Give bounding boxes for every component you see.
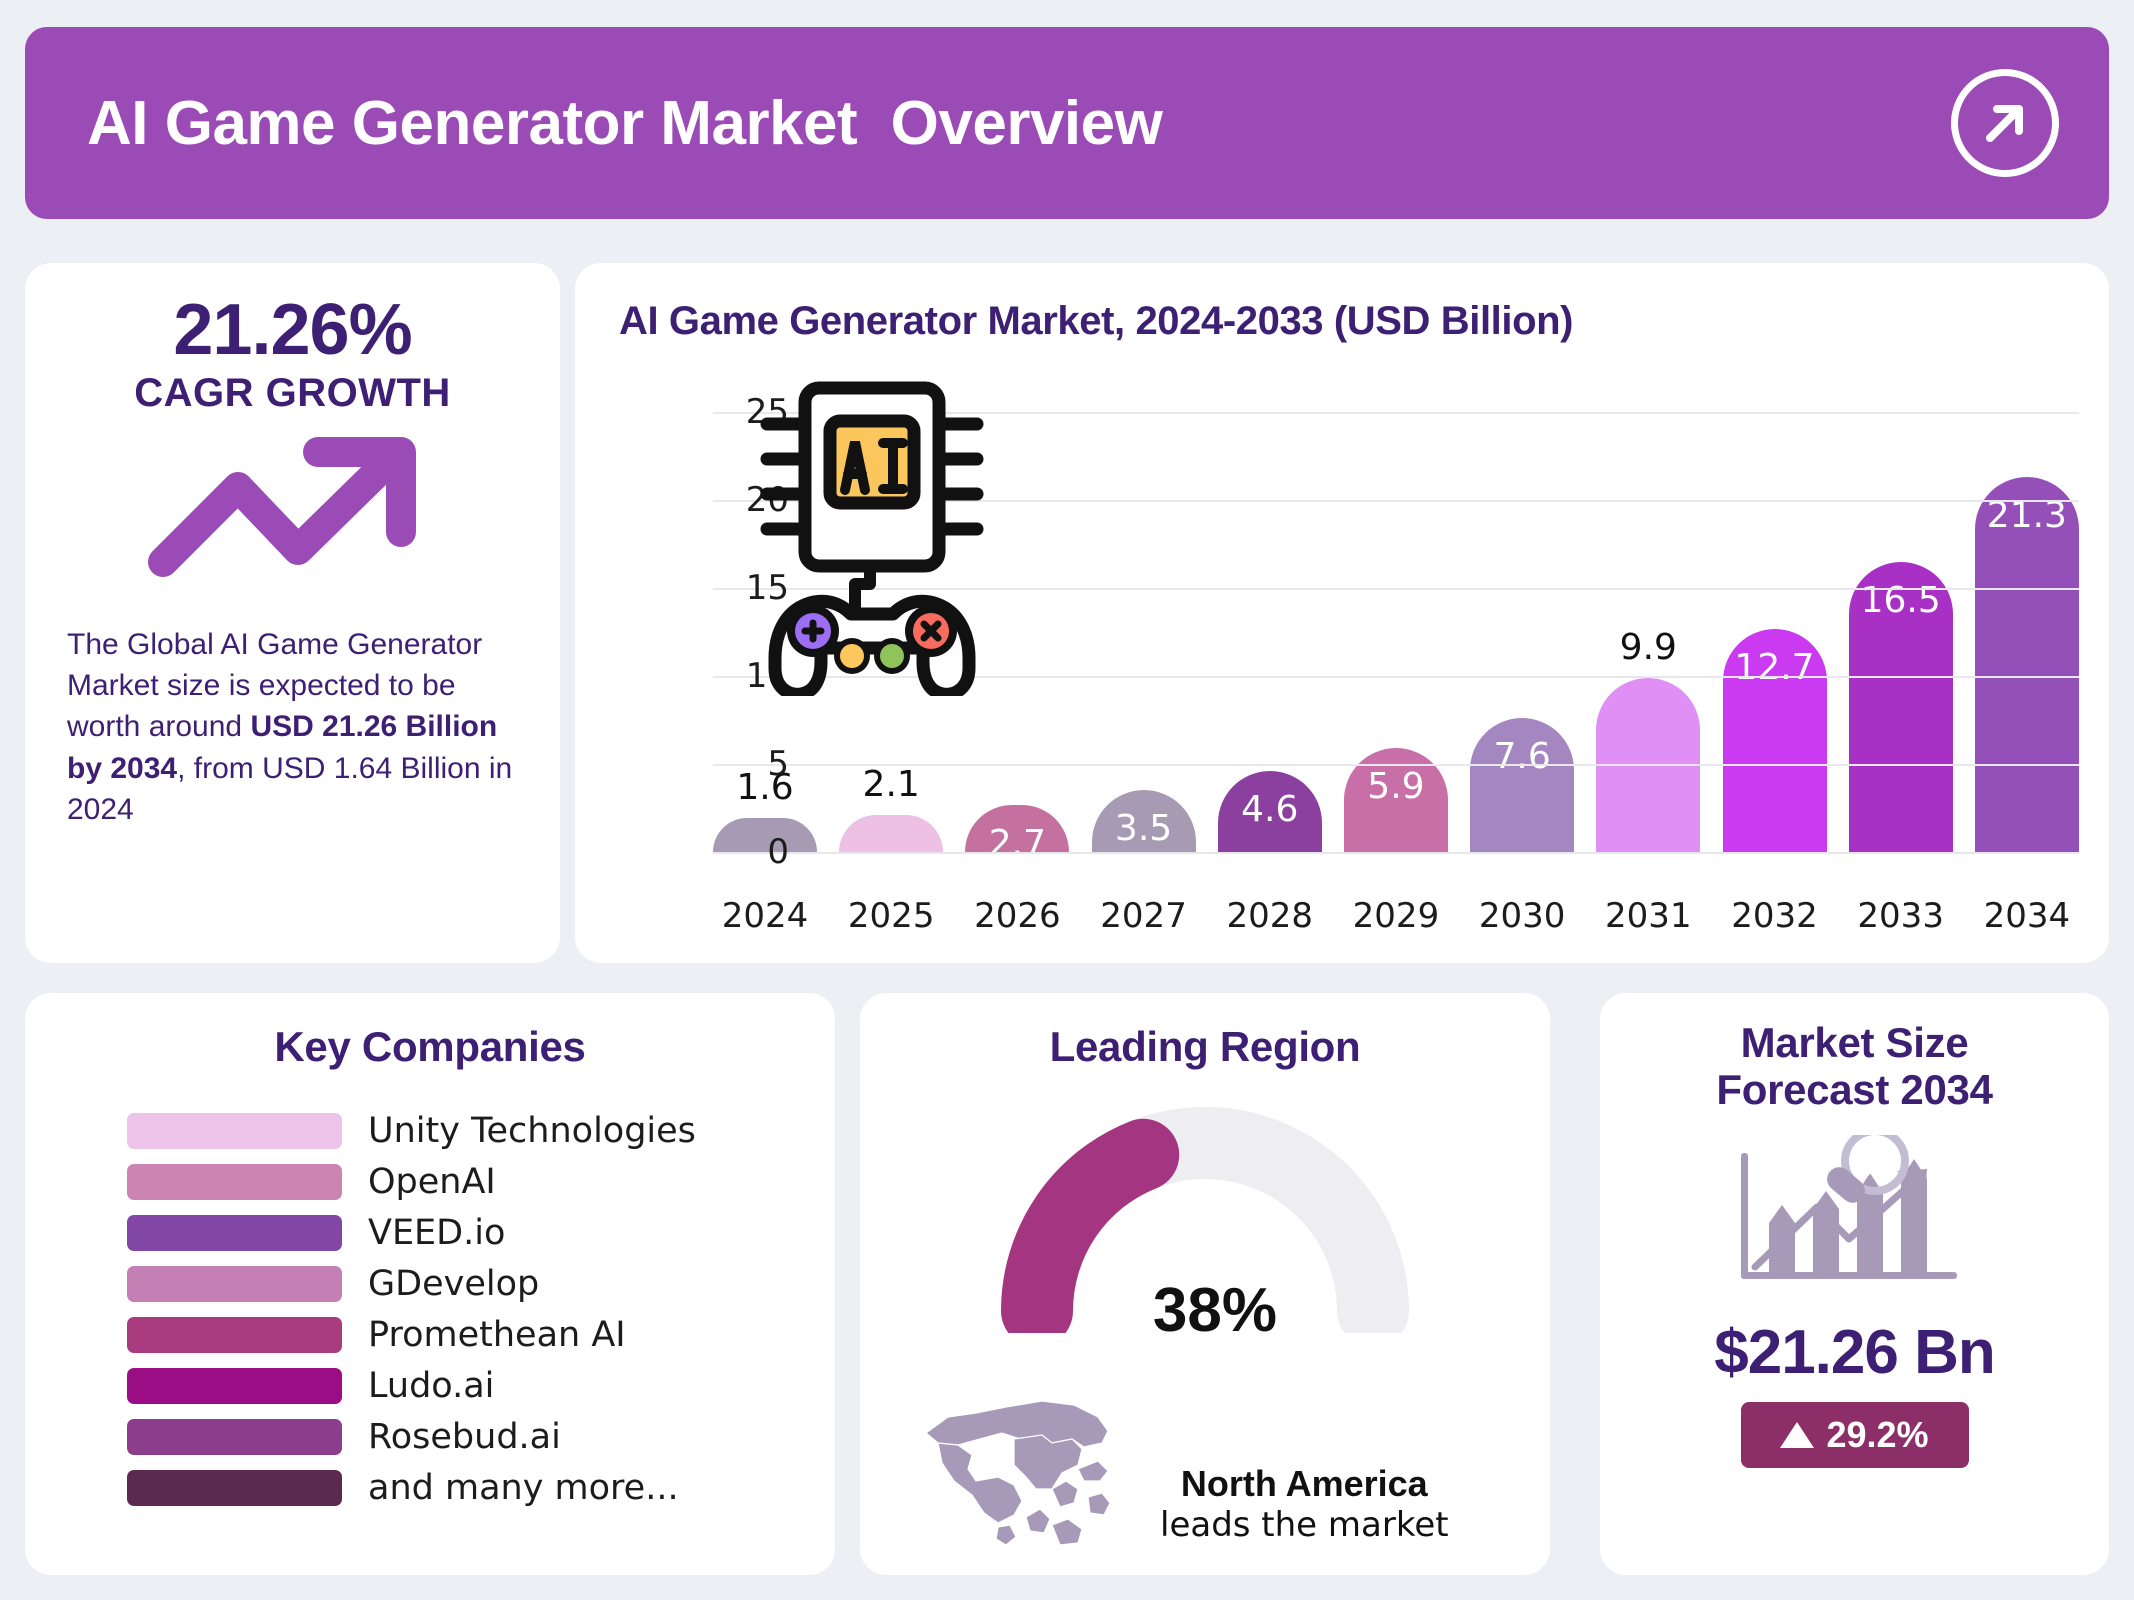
company-list-item[interactable]: Promethean AI <box>127 1309 799 1360</box>
company-name: VEED.io <box>368 1213 505 1253</box>
y-axis-tick: 25 <box>709 392 789 432</box>
leading-region-title: Leading Region <box>896 1023 1514 1071</box>
company-color-swatch <box>127 1215 342 1251</box>
bar[interactable]: 16.5 <box>1849 562 1953 852</box>
gridline <box>713 500 2079 502</box>
region-gauge: 38% <box>896 1093 1514 1393</box>
leading-region-card: Leading Region 38% <box>860 993 1550 1575</box>
x-axis-label: 2032 <box>1723 896 1827 936</box>
company-list-item[interactable]: Ludo.ai <box>127 1360 799 1411</box>
y-axis-tick: 20 <box>709 480 789 520</box>
page-header: AI Game Generator Market Overview <box>25 27 2109 219</box>
company-name: GDevelop <box>368 1264 539 1304</box>
region-subtitle: leads the market <box>1160 1505 1449 1545</box>
cagr-value: 21.26% <box>67 293 518 369</box>
forecast-growth-badge: 29.2% <box>1741 1402 1969 1468</box>
bar-value-label: 5.9 <box>1344 766 1448 807</box>
bar-value-label: 7.6 <box>1470 736 1574 777</box>
bar[interactable]: 4.6 <box>1218 771 1322 852</box>
company-list-item[interactable]: and many more... <box>127 1462 799 1513</box>
bar-item[interactable]: 16.5 <box>1849 386 1953 852</box>
company-name: Unity Technologies <box>368 1111 696 1151</box>
bar-value-label: 9.9 <box>1596 627 1700 668</box>
bar-value-label: 4.6 <box>1218 789 1322 830</box>
bar-item[interactable]: 2.1 <box>839 386 943 852</box>
x-axis-label: 2030 <box>1470 896 1574 936</box>
growth-chart-magnifier-icon <box>1630 1135 2079 1295</box>
y-axis-tick: 15 <box>709 568 789 608</box>
x-axis-label: 2033 <box>1849 896 1953 936</box>
x-axis-label: 2025 <box>839 896 943 936</box>
x-axis-label: 2031 <box>1596 896 1700 936</box>
forecast-title: Market Size Forecast 2034 <box>1630 1019 2079 1113</box>
x-axis-labels: 2024202520262027202820292030203120322033… <box>713 896 2079 936</box>
x-axis-label: 2024 <box>713 896 817 936</box>
gridline <box>713 852 2079 854</box>
bar-value-label: 2.7 <box>965 823 1069 864</box>
bar[interactable]: 21.3 <box>1975 477 2079 852</box>
company-color-swatch <box>127 1470 342 1506</box>
x-axis-label: 2029 <box>1344 896 1448 936</box>
bar-item[interactable]: 21.3 <box>1975 386 2079 852</box>
chart-card: AI Game Generator Market, 2024-2033 (USD… <box>575 263 2109 963</box>
arrow-up-right-icon[interactable] <box>1951 69 2059 177</box>
bar[interactable] <box>839 815 943 852</box>
company-name: Promethean AI <box>368 1315 626 1355</box>
bar-value-label: 2.1 <box>839 764 943 805</box>
cagr-card: 21.26% CAGR GROWTH The Global AI Game Ge… <box>25 263 560 963</box>
bar-item[interactable]: 3.5 <box>1092 386 1196 852</box>
infographic-page: AI Game Generator Market Overview 21.26%… <box>0 0 2134 1600</box>
forecast-value: $21.26 Bn <box>1630 1317 2079 1388</box>
x-axis-label: 2027 <box>1092 896 1196 936</box>
trending-up-arrow-icon <box>67 432 518 582</box>
bar[interactable]: 2.7 <box>965 805 1069 852</box>
company-list-item[interactable]: VEED.io <box>127 1207 799 1258</box>
company-name: Rosebud.ai <box>368 1417 561 1457</box>
company-color-swatch <box>127 1419 342 1455</box>
chart-title: AI Game Generator Market, 2024-2033 (USD… <box>619 299 2079 344</box>
bar-series: 1.62.12.73.54.65.97.69.912.716.521.3 <box>713 386 2079 852</box>
bar-item[interactable]: 12.7 <box>1723 386 1827 852</box>
bar-item[interactable]: 2.7 <box>965 386 1069 852</box>
x-axis-label: 2034 <box>1975 896 2079 936</box>
company-name: Ludo.ai <box>368 1366 494 1406</box>
triangle-up-icon <box>1780 1422 1814 1448</box>
forecast-title-line2: Forecast 2034 <box>1630 1066 2079 1113</box>
company-color-swatch <box>127 1317 342 1353</box>
company-name: and many more... <box>368 1468 679 1508</box>
key-companies-title: Key Companies <box>61 1023 799 1071</box>
company-color-swatch <box>127 1113 342 1149</box>
bar[interactable]: 3.5 <box>1092 790 1196 852</box>
bar-item[interactable]: 5.9 <box>1344 386 1448 852</box>
company-list-item[interactable]: OpenAI <box>127 1156 799 1207</box>
chart-plot-area: 1.62.12.73.54.65.97.69.912.716.521.3 051… <box>605 366 2079 936</box>
bar[interactable]: 7.6 <box>1470 718 1574 852</box>
company-list-item[interactable]: GDevelop <box>127 1258 799 1309</box>
gridline <box>713 412 2079 414</box>
company-list-item[interactable]: Unity Technologies <box>127 1105 799 1156</box>
company-name: OpenAI <box>368 1162 496 1202</box>
forecast-badge-value: 29.2% <box>1826 1414 1928 1456</box>
bar[interactable]: 12.7 <box>1723 629 1827 852</box>
forecast-title-line1: Market Size <box>1630 1019 2079 1066</box>
cagr-label: CAGR GROWTH <box>67 371 518 416</box>
world-map-icon <box>902 1377 1152 1567</box>
region-footer: North America leads the market <box>896 1377 1514 1567</box>
page-title: AI Game Generator Market Overview <box>87 88 1162 159</box>
region-name: North America <box>1160 1463 1449 1505</box>
company-color-swatch <box>127 1266 342 1302</box>
company-list: Unity TechnologiesOpenAIVEED.ioGDevelopP… <box>61 1105 799 1513</box>
y-axis-tick: 0 <box>709 832 789 872</box>
gridline <box>713 588 2079 590</box>
key-companies-card: Key Companies Unity TechnologiesOpenAIVE… <box>25 993 835 1575</box>
company-color-swatch <box>127 1368 342 1404</box>
bar-value-label: 3.5 <box>1092 808 1196 849</box>
market-size-forecast-card: Market Size Forecast 2034 <box>1600 993 2109 1575</box>
y-axis-tick: 5 <box>709 744 789 784</box>
bar-chart: 1.62.12.73.54.65.97.69.912.716.521.3 051… <box>713 386 2079 896</box>
bar-item[interactable]: 9.9 <box>1596 386 1700 852</box>
x-axis-label: 2028 <box>1218 896 1322 936</box>
cagr-description: The Global AI Game Generator Market size… <box>67 624 518 831</box>
gridline <box>713 764 2079 766</box>
region-percent: 38% <box>1153 1275 1277 1346</box>
company-list-item[interactable]: Rosebud.ai <box>127 1411 799 1462</box>
bar-value-label: 12.7 <box>1723 647 1827 688</box>
y-axis-tick: 10 <box>709 656 789 696</box>
bar-item[interactable]: 7.6 <box>1470 386 1574 852</box>
x-axis-label: 2026 <box>965 896 1069 936</box>
bar-item[interactable]: 4.6 <box>1218 386 1322 852</box>
company-color-swatch <box>127 1164 342 1200</box>
gridline <box>713 676 2079 678</box>
bar-value-label: 16.5 <box>1849 580 1953 621</box>
